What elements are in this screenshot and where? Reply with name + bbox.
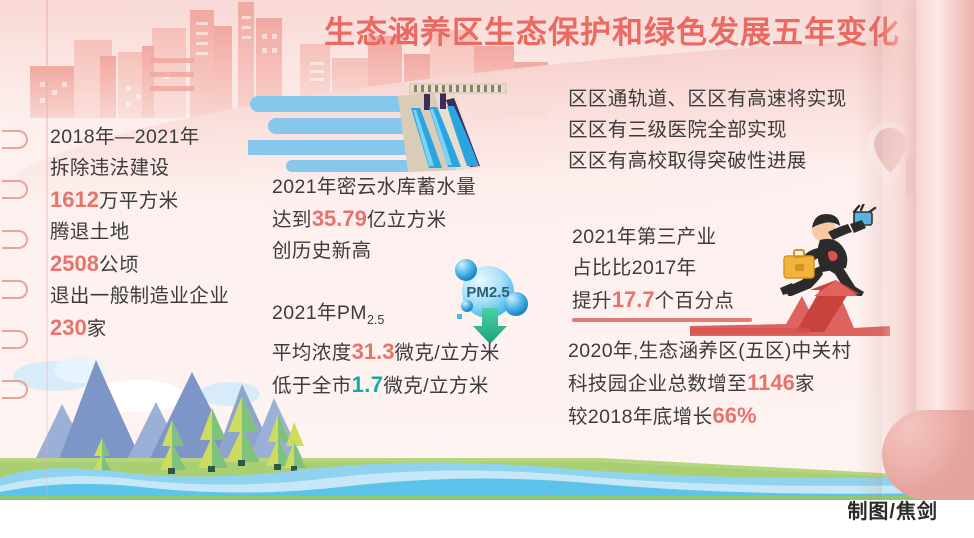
stat-line: 平均浓度31.3微克/立方米 [272, 336, 500, 369]
stat-line: 区区有三级医院全部实现 [568, 115, 847, 146]
stat-line: 腾退土地 [50, 217, 229, 248]
dam-icon [248, 78, 518, 174]
stat-line: 提升17.7个百分点 [572, 284, 734, 317]
stat-value: 230 [50, 315, 87, 340]
stat-line: 低于全市1.7微克/立方米 [272, 369, 500, 402]
stat-value: 2508 [50, 251, 99, 276]
stat-unit: 家 [795, 373, 815, 395]
stat-value: 66% [712, 403, 756, 428]
spiral-binding-icon [0, 0, 46, 500]
page-curl-icon [882, 0, 974, 500]
paper-sheet: PM2.5 [0, 0, 974, 500]
stat-block-pm25: 2021年PM2.5 平均浓度31.3微克/立方米 低于全市1.7微克/立方米 [272, 298, 500, 402]
stat-block-sciencepark: 2020年,生态涵养区(五区)中关村 科技园企业总数增至1146家 较2018年… [568, 336, 852, 433]
stat-line: 达到35.79亿立方米 [272, 203, 476, 236]
stat-value: 35.79 [312, 206, 367, 231]
stat-line: 退出一般制造业企业 [50, 281, 229, 312]
stat-prefix: 2021年PM [272, 302, 367, 324]
sheet-left-edge [46, 0, 48, 500]
stat-prefix: 科技园企业总数增至 [568, 373, 747, 395]
stat-line: 拆除违法建设 [50, 153, 229, 184]
stat-line: 2021年第三产业 [572, 222, 734, 253]
stat-unit: 个百分点 [655, 290, 735, 312]
stat-line: 230家 [50, 312, 229, 345]
stat-unit: 微克/立方米 [383, 375, 488, 397]
stat-block-industry: 2021年第三产业 占比比2017年 提升17.7个百分点 [572, 222, 734, 317]
stat-prefix: 低于全市 [272, 375, 352, 397]
stat-line: 2021年密云水库蓄水量 [272, 172, 476, 203]
stat-line: 2021年PM2.5 [272, 298, 500, 336]
stat-unit: 微克/立方米 [394, 342, 499, 364]
stat-unit: 公顷 [99, 254, 139, 276]
stat-prefix: 较2018年底增长 [568, 406, 712, 428]
stat-unit: 亿立方米 [367, 209, 447, 231]
stat-value: 1.7 [352, 372, 384, 397]
stat-prefix: 提升 [572, 290, 612, 312]
stat-prefix: 达到 [272, 209, 312, 231]
credit-line: 制图/焦剑 [847, 495, 938, 524]
stat-unit: 万平方米 [99, 190, 179, 212]
stat-value: 17.7 [612, 287, 655, 312]
stat-value: 1612 [50, 187, 99, 212]
page-curl-shadow [856, 0, 882, 500]
stat-block-water: 2021年密云水库蓄水量 达到35.79亿立方米 创历史新高 [272, 172, 476, 267]
stat-block-infrastructure: 区区通轨道、区区有高速将实现 区区有三级医院全部实现 区区有高校取得突破性进展 [568, 84, 847, 177]
stat-value: 1146 [747, 370, 795, 395]
stat-value: 31.3 [352, 339, 395, 364]
stat-line: 2018年—2021年 [50, 122, 229, 153]
page-curl-bottom [882, 410, 974, 500]
stat-line: 区区通轨道、区区有高速将实现 [568, 84, 847, 115]
stat-line: 科技园企业总数增至1146家 [568, 367, 852, 400]
stat-line: 较2018年底增长66% [568, 400, 852, 433]
stat-prefix: 平均浓度 [272, 342, 352, 364]
stat-block-land: 2018年—2021年 拆除违法建设 1612万平方米 腾退土地 2508公顷 … [50, 122, 229, 345]
stat-line: 2508公顷 [50, 248, 229, 281]
stat-line: 占比比2017年 [572, 253, 734, 284]
stat-subscript: 2.5 [367, 313, 384, 327]
industry-underline [572, 318, 752, 322]
infographic-poster: PM2.5 [0, 0, 974, 538]
stat-line: 创历史新高 [272, 236, 476, 267]
stat-line: 2020年,生态涵养区(五区)中关村 [568, 336, 852, 367]
stat-line: 区区有高校取得突破性进展 [568, 146, 847, 177]
stat-line: 1612万平方米 [50, 184, 229, 217]
stat-unit: 家 [87, 318, 107, 340]
